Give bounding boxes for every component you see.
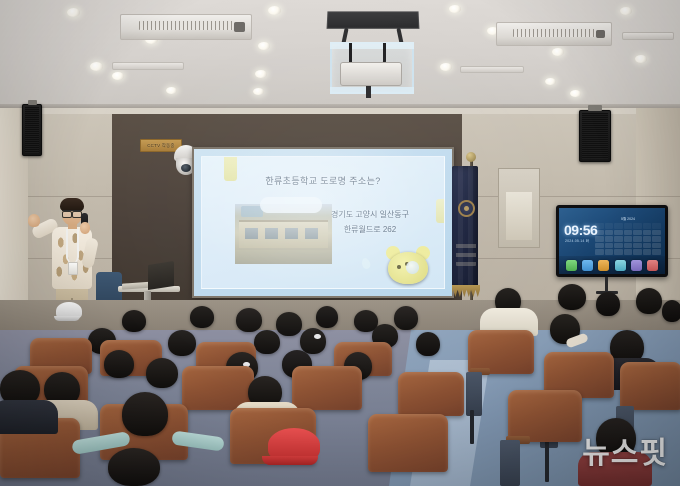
laptop-screen bbox=[148, 261, 174, 290]
address-line-1: 경기도 고양시 일산동구 bbox=[310, 207, 430, 222]
vent-slats bbox=[513, 29, 595, 37]
home-icon[interactable] bbox=[566, 260, 577, 271]
tv-date: 2024.05.14 화 bbox=[565, 239, 589, 244]
ceiling-slot bbox=[622, 32, 674, 40]
audience-head bbox=[254, 330, 280, 354]
ceremonial-flag bbox=[452, 166, 478, 288]
glasses-icon bbox=[62, 210, 82, 215]
slide-mascot bbox=[384, 246, 432, 286]
audience-head bbox=[168, 330, 196, 356]
slide-address: 경기도 고양시 일산동구 한류월드로 262 bbox=[310, 207, 430, 237]
wall-recess-inner bbox=[506, 192, 532, 240]
auditorium-seat bbox=[368, 414, 448, 472]
projector-lift-panel bbox=[327, 11, 420, 28]
ceiling-projector bbox=[340, 62, 402, 86]
downlight bbox=[620, 7, 632, 15]
downlight bbox=[570, 90, 581, 97]
slide-title: 한류초등학교 도로명 주소는? bbox=[202, 174, 444, 187]
audience-shoulders bbox=[0, 400, 58, 434]
cap-brim bbox=[262, 456, 318, 465]
cctv-lens-icon bbox=[181, 164, 191, 172]
building-window bbox=[285, 228, 298, 239]
downlight bbox=[258, 42, 270, 50]
vent-knob bbox=[234, 22, 244, 32]
tv-app-dock[interactable] bbox=[559, 256, 665, 274]
downlight bbox=[253, 88, 264, 95]
school-grounds bbox=[235, 250, 332, 264]
wall-mounted-tv[interactable]: 09:56 2024.05.14 화 5월 2024 bbox=[556, 205, 668, 277]
audience-head bbox=[316, 306, 338, 328]
presenter-lanyard bbox=[66, 229, 79, 263]
flag-fold bbox=[458, 166, 463, 288]
calendar-week-row bbox=[595, 249, 661, 255]
gallery-icon[interactable] bbox=[598, 260, 609, 271]
downlight bbox=[90, 62, 103, 71]
mascot-cheek bbox=[406, 261, 419, 274]
watermark: 뉴스핏 bbox=[582, 428, 668, 472]
downlight bbox=[67, 8, 80, 17]
projector-stem bbox=[366, 86, 371, 98]
settings-icon[interactable] bbox=[615, 260, 626, 271]
speaker-grille bbox=[582, 113, 608, 159]
auditorium-seat bbox=[508, 390, 582, 442]
downlight bbox=[112, 72, 124, 80]
audience-head bbox=[596, 292, 620, 316]
photo-scene: CCTV 작동중 한류초등학교 도로명 주소는? bbox=[0, 0, 680, 486]
downlight bbox=[268, 6, 281, 15]
presenter-raised-hand bbox=[28, 214, 40, 227]
ceiling-slot bbox=[112, 62, 184, 70]
cap-brim bbox=[54, 316, 80, 321]
building-window bbox=[245, 228, 258, 239]
mascot-droplet bbox=[360, 257, 371, 270]
audience-head bbox=[300, 328, 326, 354]
calendar-week-row bbox=[595, 230, 661, 236]
speaker-bracket bbox=[28, 100, 37, 105]
downlight bbox=[545, 78, 556, 85]
presenter-mic-hand bbox=[80, 222, 90, 234]
audience-head bbox=[146, 358, 178, 388]
tv-calendar: 5월 2024 bbox=[595, 217, 661, 256]
calendar-header-row bbox=[595, 223, 661, 229]
audience-head bbox=[104, 350, 134, 378]
building-window bbox=[265, 228, 278, 239]
flag-fold bbox=[468, 166, 473, 288]
projection-screen: 한류초등학교 도로명 주소는? 경기도 고양시 일산동구 한류월드로 262 bbox=[194, 149, 452, 296]
slide-decor-tab-right bbox=[436, 199, 445, 223]
ceiling-slot bbox=[460, 66, 524, 73]
audience-head bbox=[122, 310, 146, 332]
vent-knob bbox=[596, 30, 605, 39]
audience-head bbox=[416, 332, 440, 356]
calendar-week-row bbox=[595, 236, 661, 242]
downlight bbox=[166, 87, 177, 94]
audience-head bbox=[190, 306, 214, 328]
left-wall-speaker bbox=[22, 104, 42, 156]
downlight bbox=[255, 70, 267, 78]
seat-post bbox=[545, 440, 549, 482]
ac-vent bbox=[496, 22, 612, 46]
audience-head bbox=[662, 300, 680, 322]
flag-lettering bbox=[456, 240, 476, 266]
auditorium-seat bbox=[292, 366, 362, 410]
calendar-title: 5월 2024 bbox=[595, 217, 661, 222]
audience-head bbox=[236, 308, 262, 332]
calendar-icon[interactable] bbox=[631, 260, 642, 271]
browser-icon[interactable] bbox=[582, 260, 593, 271]
downlight bbox=[552, 48, 564, 56]
flag-emblem bbox=[458, 200, 475, 217]
audience-head bbox=[108, 448, 160, 486]
downlight bbox=[635, 55, 647, 63]
speaker-grille bbox=[25, 107, 39, 153]
auditorium-seat bbox=[620, 362, 680, 410]
right-wall-speaker bbox=[579, 110, 611, 162]
seat-side-panel bbox=[466, 372, 482, 416]
apps-icon[interactable] bbox=[647, 260, 658, 271]
presenter-id-badge bbox=[68, 262, 78, 275]
audience-head bbox=[558, 284, 586, 310]
mascot-eye-left bbox=[397, 265, 401, 269]
address-line-2: 한류월드로 262 bbox=[310, 222, 430, 237]
hair-tie bbox=[314, 334, 321, 339]
audience-head bbox=[636, 288, 662, 314]
presentation-slide: 한류초등학교 도로명 주소는? 경기도 고양시 일산동구 한류월드로 262 bbox=[201, 156, 445, 289]
downlight bbox=[449, 5, 461, 13]
audience-head bbox=[276, 312, 302, 336]
seat-side-panel bbox=[500, 440, 520, 486]
ac-vent bbox=[120, 14, 252, 40]
calendar-week-row bbox=[595, 243, 661, 249]
flag-finial bbox=[466, 152, 476, 162]
audience-head bbox=[394, 306, 418, 330]
projection-screen-frame: 한류초등학교 도로명 주소는? 경기도 고양시 일산동구 한류월드로 262 bbox=[192, 147, 454, 298]
vent-slats bbox=[139, 21, 233, 30]
downlight bbox=[440, 63, 452, 71]
speaker-bracket bbox=[588, 105, 602, 111]
auditorium-seat bbox=[398, 372, 464, 416]
seat-post bbox=[470, 410, 474, 444]
audience-head bbox=[122, 392, 168, 436]
tv-screen: 09:56 2024.05.14 화 5월 2024 bbox=[559, 208, 665, 274]
wall-panel-line bbox=[462, 196, 680, 197]
tv-clock: 09:56 bbox=[564, 222, 597, 238]
